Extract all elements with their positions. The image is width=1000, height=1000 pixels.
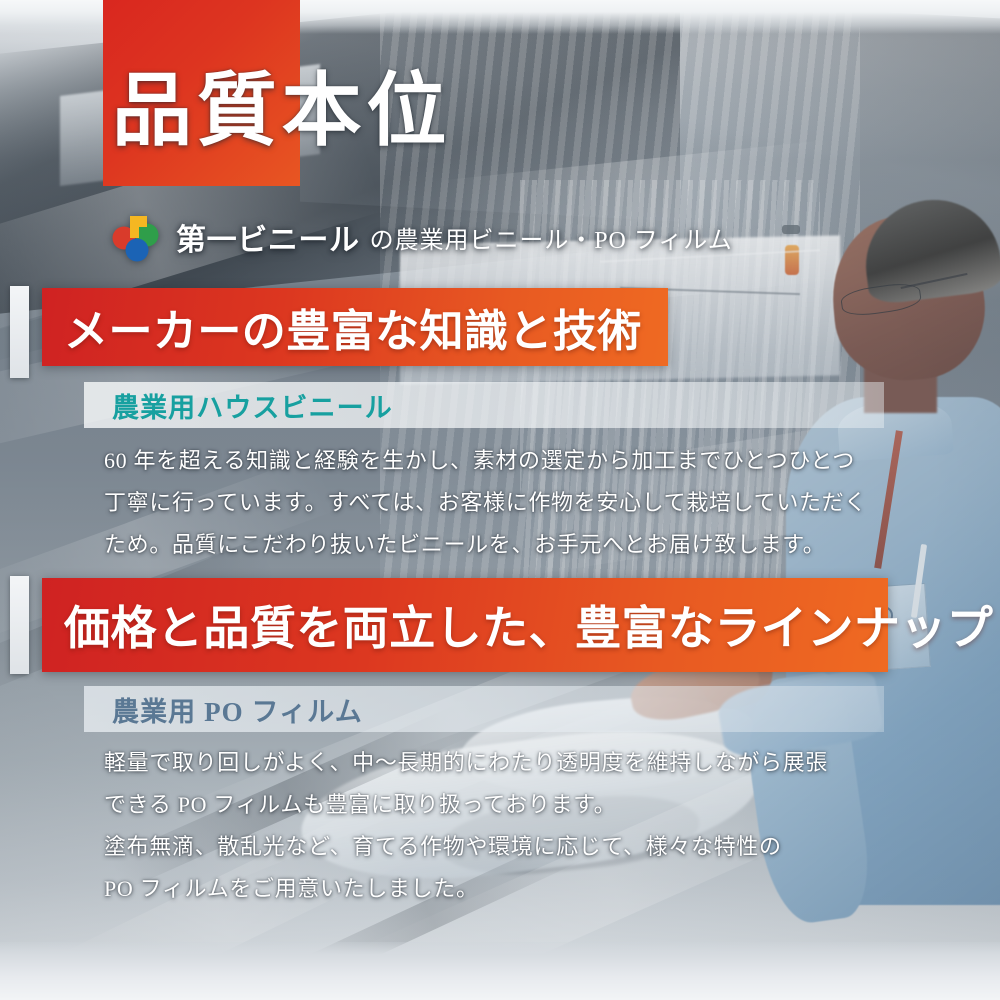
paragraph-line: 軽量で取り回しがよく、中〜長期的にわたり透明度を維持しながら展張 — [104, 742, 894, 784]
brand-row: 第一ビニール の農業用ビニール・PO フィルム — [110, 212, 733, 262]
section-banner-2: 価格と品質を両立した、豊富なラインナップ — [42, 578, 888, 672]
paragraph-line: できる PO フィルムも豊富に取り扱っております。 — [104, 784, 894, 826]
pinwheel-flower-logo-icon — [110, 212, 162, 262]
paragraph-line: 丁寧に行っています。すべては、お客様に作物を安心して栽培していただく — [104, 482, 894, 524]
brand-name: 第一ビニール — [176, 215, 360, 259]
section-banner-1: メーカーの豊富な知識と技術 — [42, 288, 668, 366]
paragraph-line: 塗布無滴、散乱光など、育てる作物や環境に応じて、様々な特性の — [104, 826, 894, 868]
sub-heading-2: 農業用 PO フィルム — [112, 690, 363, 729]
sub-heading-band-2: 農業用 PO フィルム — [84, 686, 884, 732]
left-accent-bar-2 — [10, 576, 29, 674]
section-paragraph-1: 60 年を超える知識と経験を生かし、素材の選定から加工までひとつひとつ 丁寧に行… — [104, 440, 894, 566]
paragraph-line: PO フィルムをご用意いたしました。 — [104, 868, 894, 910]
promo-banner-page: 品質本位 第一ビニール の農業用ビニール・PO フィルム メーカーの豊富な知識と… — [0, 0, 1000, 1000]
section-paragraph-2: 軽量で取り回しがよく、中〜長期的にわたり透明度を維持しながら展張 できる PO … — [104, 742, 894, 910]
section-banner-1-text: メーカーの豊富な知識と技術 — [64, 295, 642, 359]
paragraph-line: 60 年を超える知識と経験を生かし、素材の選定から加工までひとつひとつ — [104, 440, 894, 482]
section-banner-2-text: 価格と品質を両立した、豊富なラインナップ — [64, 592, 993, 658]
left-accent-bar-1 — [10, 286, 29, 378]
content-layer: 品質本位 第一ビニール の農業用ビニール・PO フィルム メーカーの豊富な知識と… — [0, 0, 1000, 1000]
paragraph-line: ため。品質にこだわり抜いたビニールを、お手元へとお届け致します。 — [104, 524, 894, 566]
sub-heading-band-1: 農業用ハウスビニール — [84, 382, 884, 428]
brand-tagline: の農業用ビニール・PO フィルム — [370, 220, 733, 255]
sub-heading-1: 農業用ハウスビニール — [112, 386, 393, 425]
page-title: 品質本位 — [112, 72, 812, 152]
